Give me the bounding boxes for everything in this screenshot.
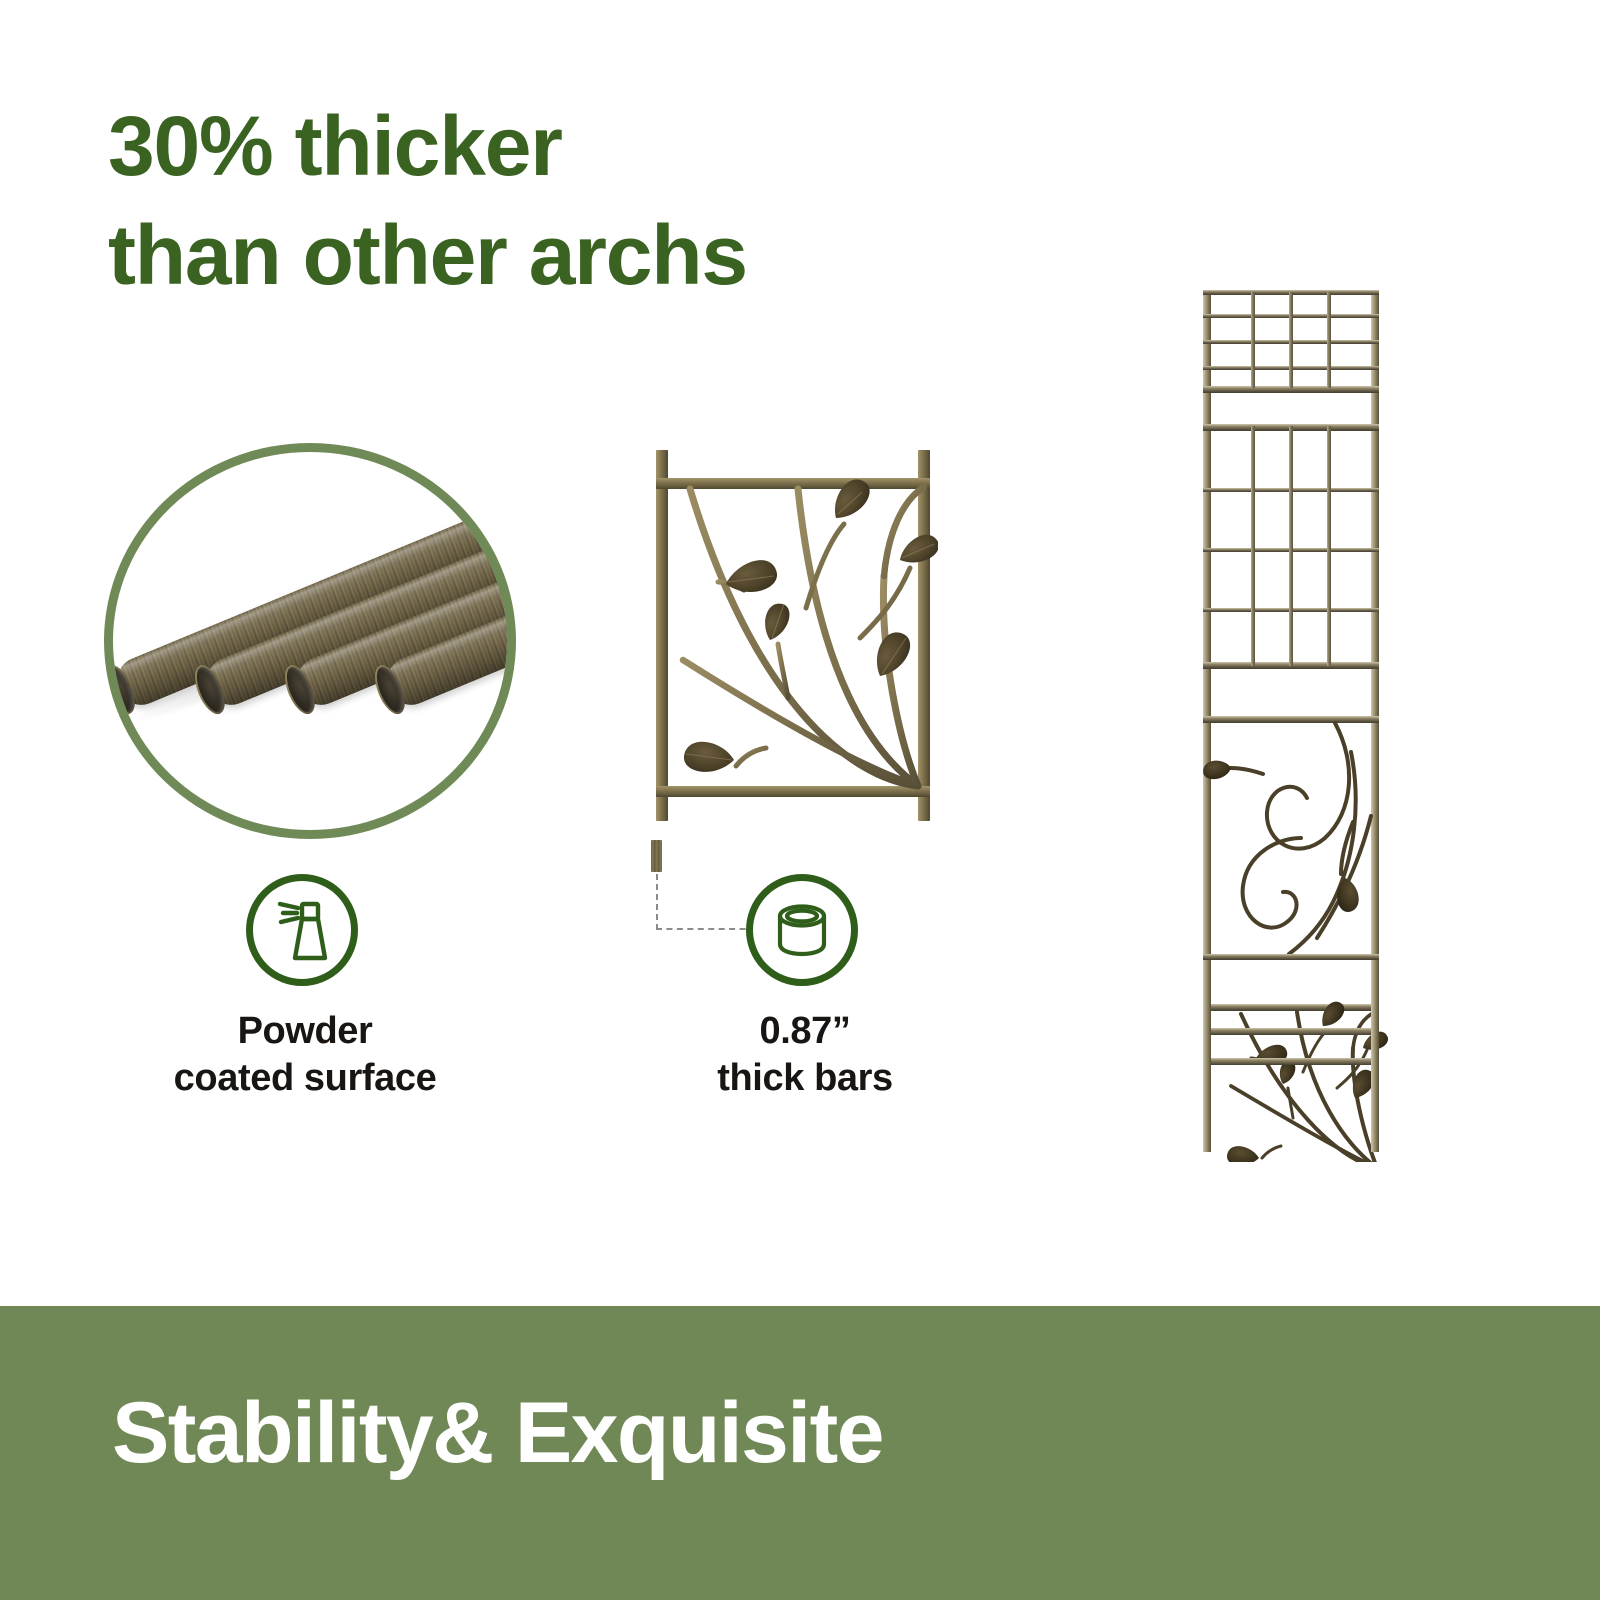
panel-rail-bottom (656, 786, 930, 797)
banner-title: Stability& Exquisite (112, 1384, 883, 1483)
trellis-legs (1185, 1000, 1405, 1160)
bar-thickness-caption: 0.87” thick bars (630, 1008, 980, 1101)
leader-line-vertical (656, 874, 658, 930)
bottom-banner: Stability& Exquisite (0, 1306, 1600, 1600)
panel-post-right (918, 450, 930, 821)
spray-bottle-icon-badge (246, 874, 358, 986)
trellis-leg-right (1371, 1000, 1379, 1152)
cylinder-icon-badge (746, 874, 858, 986)
trellis-rail-lower-b (1203, 1058, 1379, 1065)
trellis-rail-lower-a (1203, 1028, 1379, 1035)
trellis-section-wide-grid (1203, 426, 1379, 669)
headline-title: 30% thicker than other archs (108, 92, 1008, 310)
trellis-product-image (1185, 282, 1405, 1162)
trellis-section-fine-grid (1203, 290, 1379, 393)
trellis-section-scroll-motif (1202, 723, 1379, 960)
cylinder-tube-icon (766, 894, 838, 966)
spray-bottle-icon (264, 892, 340, 968)
tube-photo-clip (113, 452, 507, 830)
decorative-panel-visual (648, 448, 938, 823)
panel-rail-top (656, 478, 930, 489)
trellis-rail (1203, 716, 1379, 723)
powder-coat-visual (104, 443, 516, 839)
powder-coat-caption: Powder coated surface (60, 1008, 550, 1101)
trellis-leg-left (1203, 1000, 1211, 1152)
panel-post-left (656, 450, 668, 821)
bar-cross-section-stub (651, 840, 662, 872)
leader-line-horizontal (656, 928, 756, 930)
